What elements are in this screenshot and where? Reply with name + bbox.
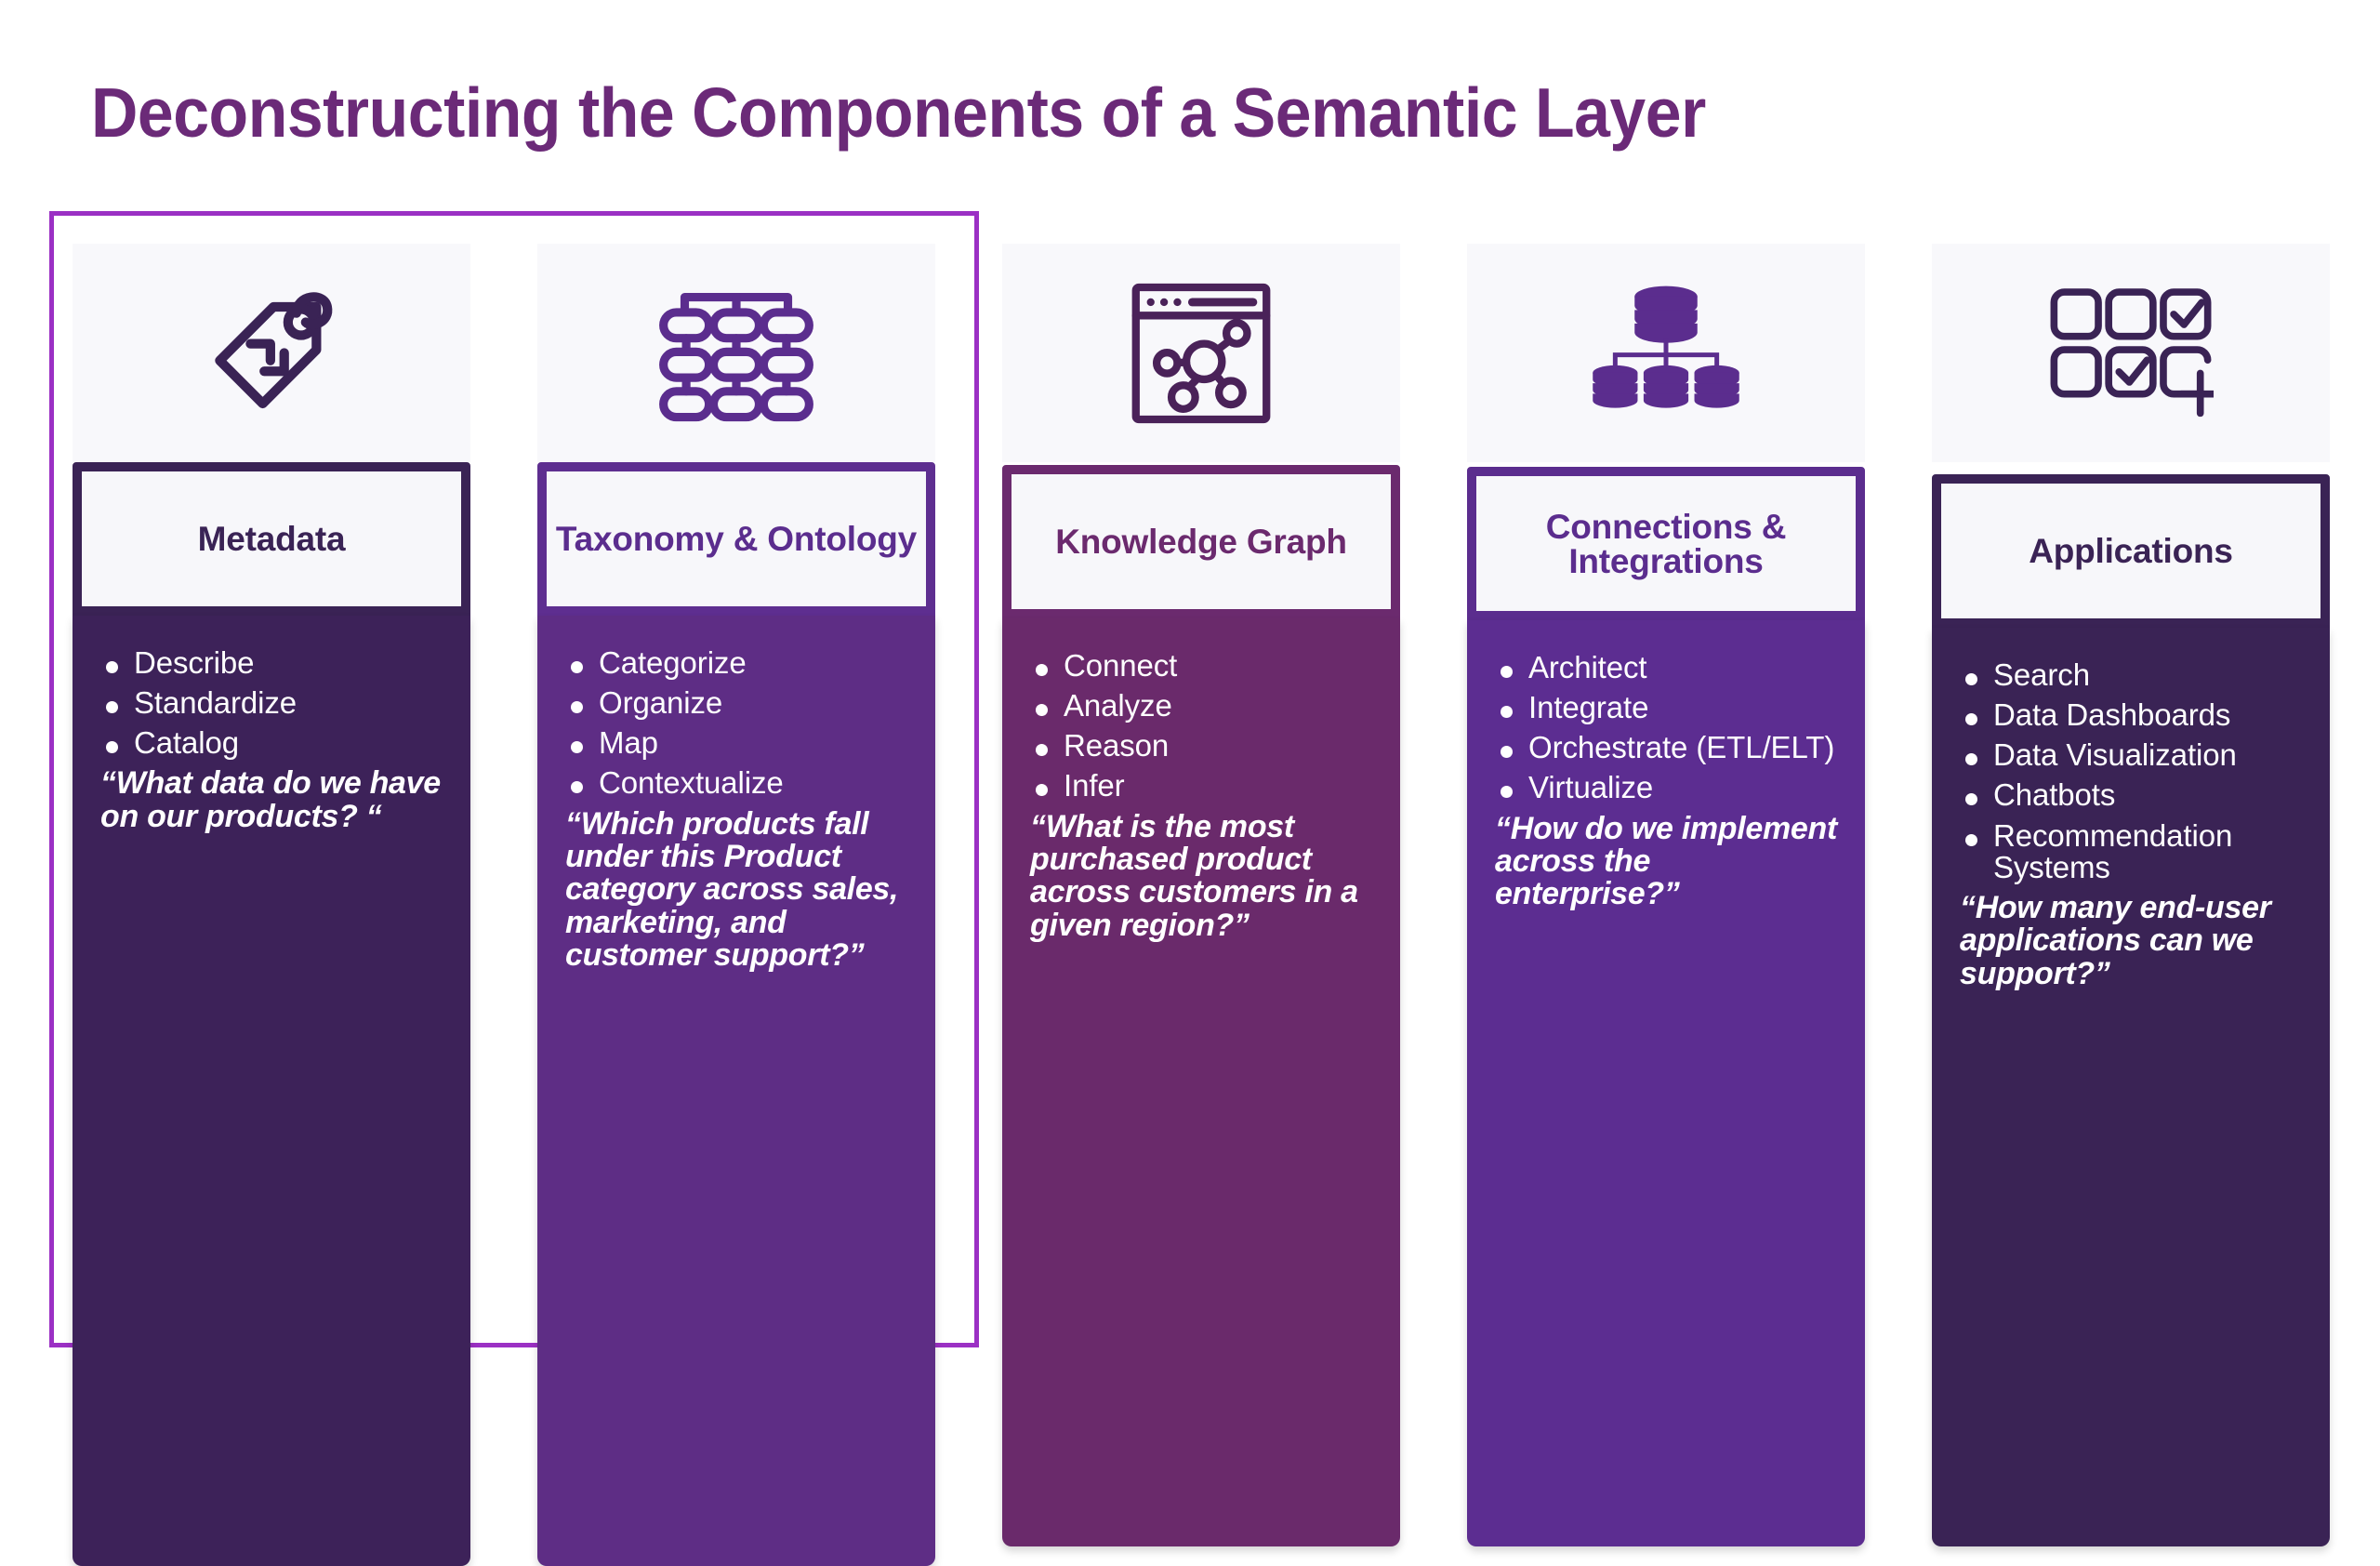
list-item: Contextualize (565, 767, 915, 799)
list-item: Virtualize (1495, 772, 1844, 803)
list-item: Data Dashboards (1960, 699, 2309, 731)
body-panel-taxonomy-ontology: Categorize Organize Map Contextualize “W… (537, 616, 935, 1566)
body-panel-knowledge-graph: Connect Analyze Reason Infer “What is th… (1002, 618, 1400, 1546)
list-item: Recommendation Systems (1960, 820, 2309, 883)
icon-panel-applications (1932, 244, 2330, 462)
list-item: Integrate (1495, 692, 1844, 723)
column-heading: Applications (2029, 534, 2233, 568)
list-item: Chatbots (1960, 779, 2309, 811)
list-item: Data Visualization (1960, 739, 2309, 771)
list-item: Map (565, 727, 915, 759)
quote-applications: “How many end-user applications can we s… (1932, 892, 2330, 990)
list-item: Orchestrate (ETL/ELT) (1495, 732, 1844, 763)
price-tag-icon (195, 276, 349, 430)
header-card-taxonomy-ontology: Taxonomy & Ontology (537, 462, 935, 616)
column-heading: Connections & Integrations (1476, 510, 1856, 578)
icon-panel-taxonomy-ontology (537, 244, 935, 462)
bullet-list-applications: Search Data Dashboards Data Visualizatio… (1932, 659, 2330, 883)
list-item: Standardize (100, 687, 450, 719)
quote-metadata: “What data do we have on our products? “ (73, 767, 470, 833)
taxonomy-hierarchy-icon (657, 279, 815, 428)
bullet-list-knowledge-graph: Connect Analyze Reason Infer (1002, 650, 1400, 803)
app-grid-checkbox-icon (2048, 285, 2214, 422)
bullet-list-connections-integrations: Architect Integrate Orchestrate (ETL/ELT… (1467, 652, 1865, 804)
list-item: Connect (1030, 650, 1380, 682)
quote-connections-integrations: “How do we implement across the enterpri… (1467, 813, 1865, 911)
header-card-applications: Applications (1932, 474, 2330, 628)
bullet-list-taxonomy-ontology: Categorize Organize Map Contextualize (537, 647, 935, 800)
body-panel-applications: Search Data Dashboards Data Visualizatio… (1932, 628, 2330, 1546)
icon-panel-metadata (73, 244, 470, 462)
list-item: Categorize (565, 647, 915, 679)
header-card-knowledge-graph: Knowledge Graph (1002, 465, 1400, 618)
quote-knowledge-graph: “What is the most purchased product acro… (1002, 811, 1400, 942)
header-card-connections-integrations: Connections & Integrations (1467, 467, 1865, 620)
list-item: Describe (100, 647, 450, 679)
list-item: Infer (1030, 770, 1380, 802)
database-tree-icon (1582, 279, 1750, 428)
list-item: Organize (565, 687, 915, 719)
column-heading: Taxonomy & Ontology (556, 522, 917, 556)
bullet-list-metadata: Describe Standardize Catalog (73, 647, 470, 759)
header-card-metadata: Metadata (73, 462, 470, 616)
column-heading: Knowledge Graph (1055, 524, 1347, 559)
list-item: Analyze (1030, 690, 1380, 722)
component-columns: Metadata Describe Standardize Catalog “W… (0, 0, 2380, 1352)
list-item: Catalog (100, 727, 450, 759)
column-heading: Metadata (198, 522, 346, 556)
list-item: Reason (1030, 730, 1380, 762)
body-panel-metadata: Describe Standardize Catalog “What data … (73, 616, 470, 1566)
knowledge-graph-window-icon (1127, 280, 1276, 427)
icon-panel-knowledge-graph (1002, 244, 1400, 462)
body-panel-connections-integrations: Architect Integrate Orchestrate (ETL/ELT… (1467, 620, 1865, 1546)
list-item: Architect (1495, 652, 1844, 683)
icon-panel-connections-integrations (1467, 244, 1865, 462)
list-item: Search (1960, 659, 2309, 691)
quote-taxonomy-ontology: “Which products fall under this Product … (537, 808, 935, 973)
